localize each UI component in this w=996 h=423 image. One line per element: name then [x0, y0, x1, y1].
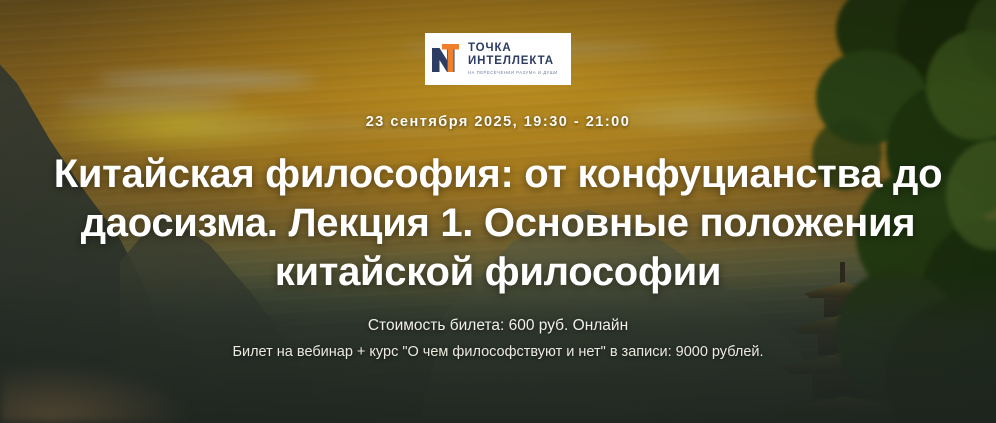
logo-line-1: ТОЧКА [468, 43, 558, 55]
event-banner: ТОЧКА ИНТЕЛЛЕКТА НА ПЕРЕСЕЧЕНИИ РАЗУМА И… [0, 0, 996, 423]
logo-line-2: ИНТЕЛЛЕКТА [468, 56, 558, 68]
event-title-line-2: даосизма. Лекция 1. Основные положения [38, 199, 958, 248]
logo-text-block: ТОЧКА ИНТЕЛЛЕКТА НА ПЕРЕСЕЧЕНИИ РАЗУМА И… [468, 43, 558, 75]
logo-tagline: НА ПЕРЕСЕЧЕНИИ РАЗУМА И ДУШИ [468, 71, 558, 75]
banner-content: ТОЧКА ИНТЕЛЛЕКТА НА ПЕРЕСЕЧЕНИИ РАЗУМА И… [0, 0, 996, 423]
tochka-intellekta-mark-icon [432, 44, 462, 74]
bundle-price: Билет на вебинар + курс "О чем философст… [232, 344, 763, 360]
logo-block[interactable]: ТОЧКА ИНТЕЛЛЕКТА НА ПЕРЕСЕЧЕНИИ РАЗУМА И… [425, 33, 571, 85]
event-title-line-3: китайской философии [38, 248, 958, 297]
event-title-line-1: Китайская философия: от конфуцианства до [38, 150, 958, 199]
event-title: Китайская философия: от конфуцианства до… [38, 150, 958, 296]
event-date: 23 сентября 2025, 19:30 - 21:00 [366, 114, 631, 130]
ticket-price: Стоимость билета: 600 руб. Онлайн [368, 317, 628, 335]
